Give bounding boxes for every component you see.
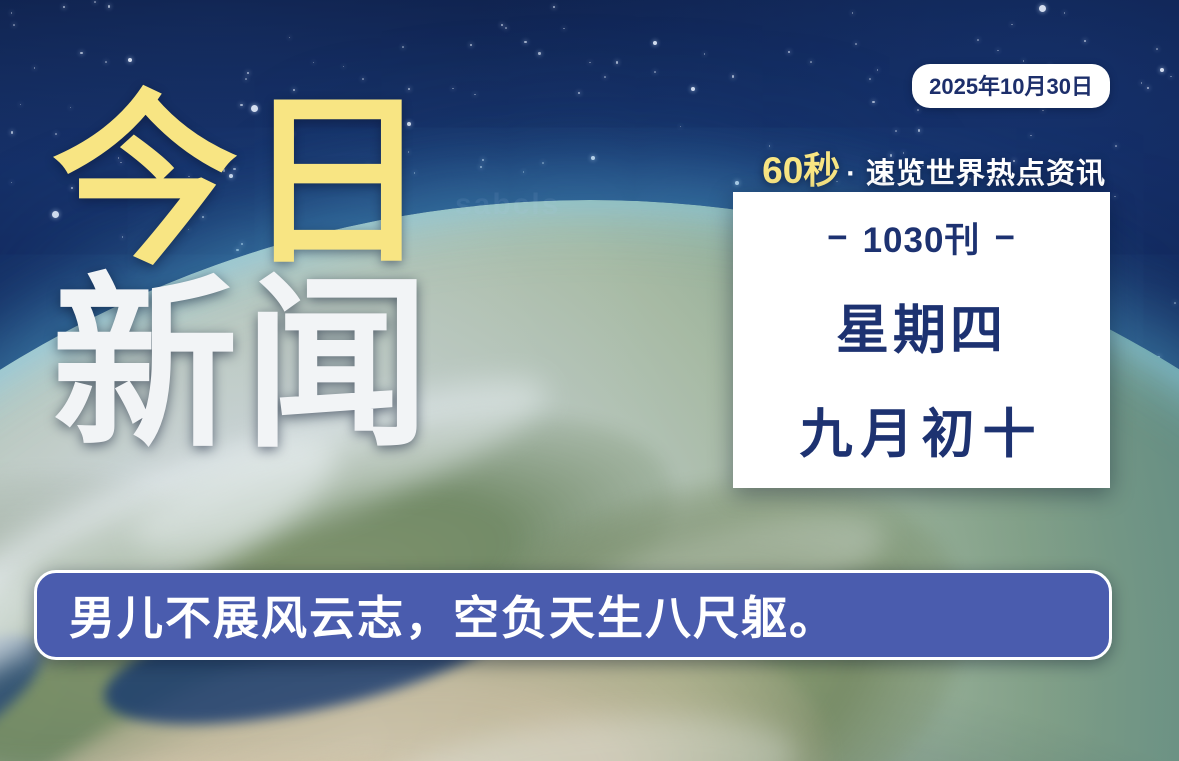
weekday-label: 星期四 bbox=[836, 288, 1007, 364]
date-info-card: − 1030刊 − 星期四 九月初十 bbox=[733, 192, 1110, 488]
quote-banner: 男儿不展风云志，空负天生八尺躯。 bbox=[34, 570, 1112, 660]
page-title-line-1: 今日 bbox=[52, 96, 436, 271]
news-poster: sabcls 今日 新闻 2025年10月30日 60秒 · 速览世界热点资讯 … bbox=[0, 0, 1179, 761]
issue-number-row: − 1030刊 − bbox=[827, 212, 1016, 263]
tagline-rest: · 速览世界热点资讯 bbox=[846, 150, 1106, 192]
issue-dash-left: − bbox=[827, 218, 848, 258]
tagline: 60秒 · 速览世界热点资讯 bbox=[762, 140, 1106, 194]
issue-number: 1030刊 bbox=[863, 212, 981, 263]
background-watermark: sabcls bbox=[455, 188, 560, 222]
poster-title: 今日 新闻 bbox=[52, 96, 436, 454]
lunar-date-label: 九月初十 bbox=[800, 392, 1044, 468]
tagline-highlight: 60秒 bbox=[762, 140, 840, 194]
page-title-line-2: 新闻 bbox=[52, 279, 436, 454]
quote-text: 男儿不展风云志，空负天生八尺躯。 bbox=[69, 582, 837, 648]
issue-dash-right: − bbox=[994, 218, 1015, 258]
date-badge: 2025年10月30日 bbox=[912, 64, 1110, 108]
